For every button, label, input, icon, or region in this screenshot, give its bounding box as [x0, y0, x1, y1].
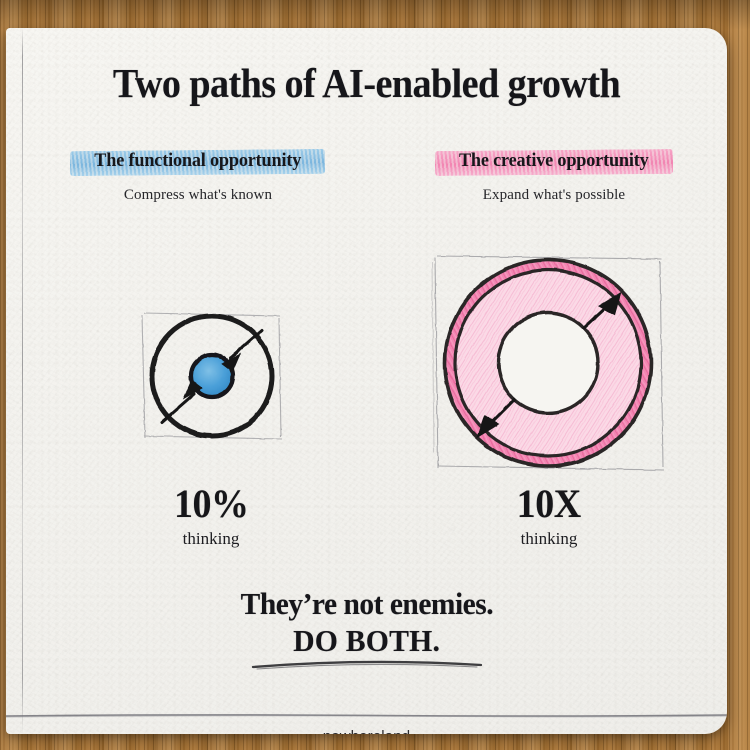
expand-ring-diagram: [424, 242, 674, 487]
footer-divider: [6, 705, 727, 709]
column-functional: The functional opportunity Compress what…: [28, 148, 368, 204]
column-functional-title: The functional opportunity: [87, 148, 309, 175]
column-creative-subtitle: Expand what's possible: [384, 187, 724, 204]
stat-functional-word: thinking: [61, 529, 361, 549]
stat-functional-number: 10%: [174, 480, 249, 527]
scene: Two paths of AI-enabled growth The funct…: [0, 0, 750, 750]
closing-line-1: They’re not enemies.: [240, 586, 493, 622]
column-creative: The creative opportunity Expand what's p…: [384, 148, 724, 204]
poster-content: Two paths of AI-enabled growth The funct…: [6, 28, 727, 734]
hand-drawn-underline-icon: [247, 658, 487, 670]
paper-sheet: Two paths of AI-enabled growth The funct…: [6, 28, 727, 734]
stat-creative-number: 10X: [517, 480, 581, 527]
expand-ring-svg: [424, 242, 674, 487]
closing-line-2: DO BOTH.: [293, 623, 440, 659]
closing-underline: [6, 657, 727, 675]
stat-creative: 10X thinking: [399, 480, 699, 549]
stat-creative-word: thinking: [399, 529, 699, 549]
compress-circle-svg: [124, 296, 299, 456]
stat-functional: 10% thinking: [61, 480, 361, 549]
highlighted-title-blue: The functional opportunity: [82, 148, 313, 175]
footer-brand: nowhereland: [6, 728, 727, 734]
column-functional-header: The functional opportunity Compress what…: [28, 148, 368, 204]
column-creative-title: The creative opportunity: [452, 148, 657, 175]
page-title: Two paths of AI-enabled growth: [31, 59, 702, 107]
closing-statement: They’re not enemies. DO BOTH.: [6, 586, 727, 675]
column-creative-header: The creative opportunity Expand what's p…: [384, 148, 724, 204]
column-functional-subtitle: Compress what's known: [28, 187, 368, 204]
highlighted-title-pink: The creative opportunity: [447, 148, 661, 175]
desk-top-shadow: [0, 0, 750, 30]
compress-circle-diagram: [124, 296, 299, 456]
footer-divider-line-icon: [6, 713, 727, 718]
